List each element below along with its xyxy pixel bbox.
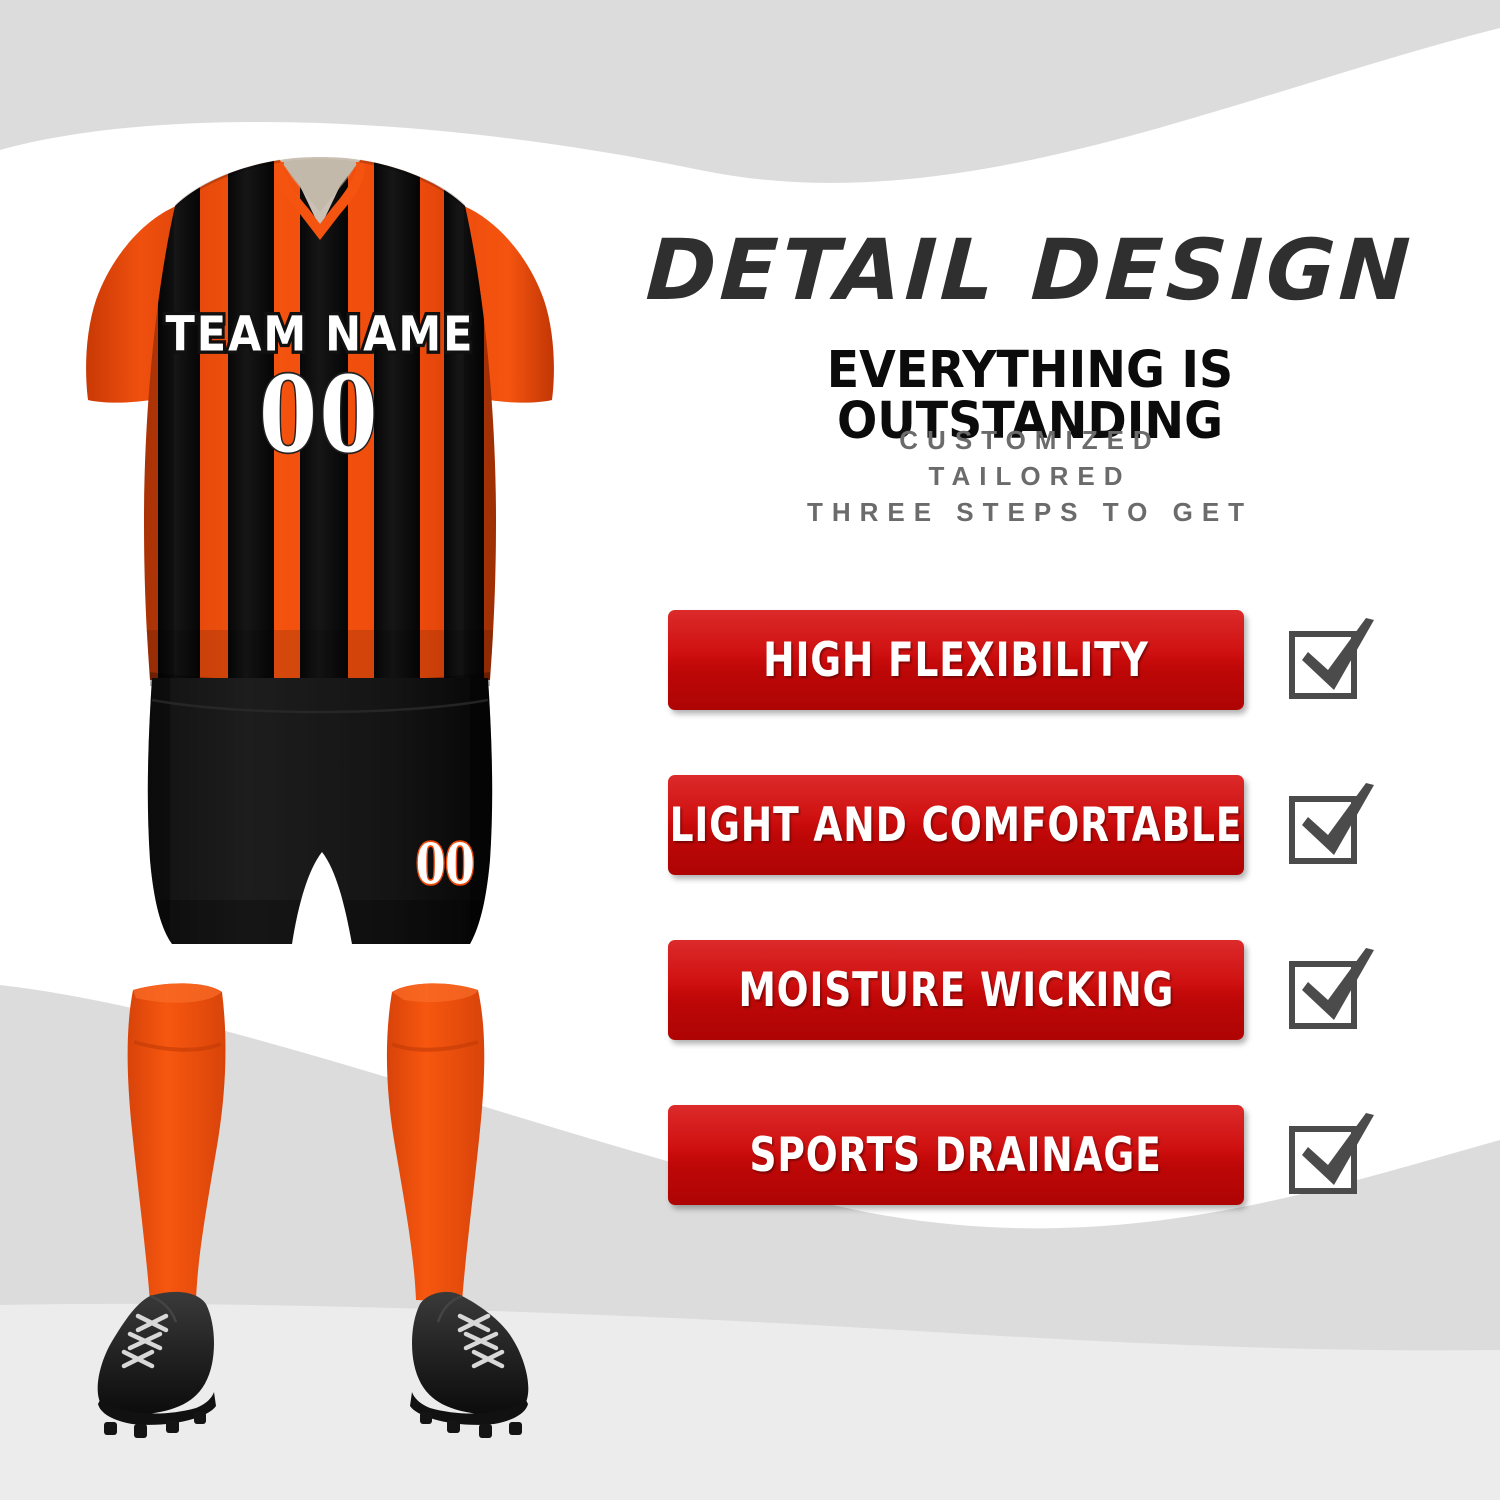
right-cleat [412,1292,528,1415]
feature-item: LIGHT AND COMFORTABLE [668,775,1468,885]
feature-item: MOISTURE WICKING [668,940,1468,1050]
feature-banner-light-and-comfortable[interactable]: LIGHT AND COMFORTABLE [668,775,1244,875]
uniform-kit-graphic: TEAM NAME 00 00 [0,0,620,1500]
jersey-number: 00 [259,355,380,477]
feature-item: SPORTS DRAINAGE [668,1105,1468,1215]
shorts-number: 00 [416,832,475,897]
shorts-graphic: 00 [140,660,504,960]
socks-graphic [128,983,485,1302]
checkbox-checked-icon[interactable] [1278,777,1378,873]
info-panel: DETAIL DESIGN EVERYTHING IS OUTSTANDING … [600,0,1500,1500]
checkbox-checked-icon[interactable] [1278,942,1378,1038]
feature-item: HIGH FLEXIBILITY [668,610,1468,720]
feature-label: HIGH FLEXIBILITY [763,633,1148,688]
feature-list: HIGH FLEXIBILITY LIGHT AND COMFORTABLE [668,610,1468,1270]
tagline-3: THREE STEPS TO GET [600,495,1460,531]
feature-banner-sports-drainage[interactable]: SPORTS DRAINAGE [668,1105,1244,1205]
tagline-2: TAILORED [600,459,1460,495]
feature-label: LIGHT AND COMFORTABLE [670,798,1243,853]
left-cleat [98,1292,214,1415]
page-title: DETAIL DESIGN [598,228,1462,312]
jersey-graphic: TEAM NAME 00 [86,150,554,710]
feature-banner-moisture-wicking[interactable]: MOISTURE WICKING [668,940,1244,1040]
tagline-group: CUSTOMIZED TAILORED THREE STEPS TO GET [600,423,1460,531]
page-title-text: DETAIL DESIGN [644,228,1415,312]
feature-label: SPORTS DRAINAGE [750,1128,1162,1183]
poster-canvas: TEAM NAME 00 00 [0,0,1500,1500]
checkbox-checked-icon[interactable] [1278,1107,1378,1203]
feature-label: MOISTURE WICKING [738,963,1174,1018]
tagline-1: CUSTOMIZED [600,423,1460,459]
cleats-graphic [98,1292,529,1438]
feature-banner-high-flexibility[interactable]: HIGH FLEXIBILITY [668,610,1244,710]
product-illustration: TEAM NAME 00 00 [0,0,620,1500]
checkbox-checked-icon[interactable] [1278,612,1378,708]
